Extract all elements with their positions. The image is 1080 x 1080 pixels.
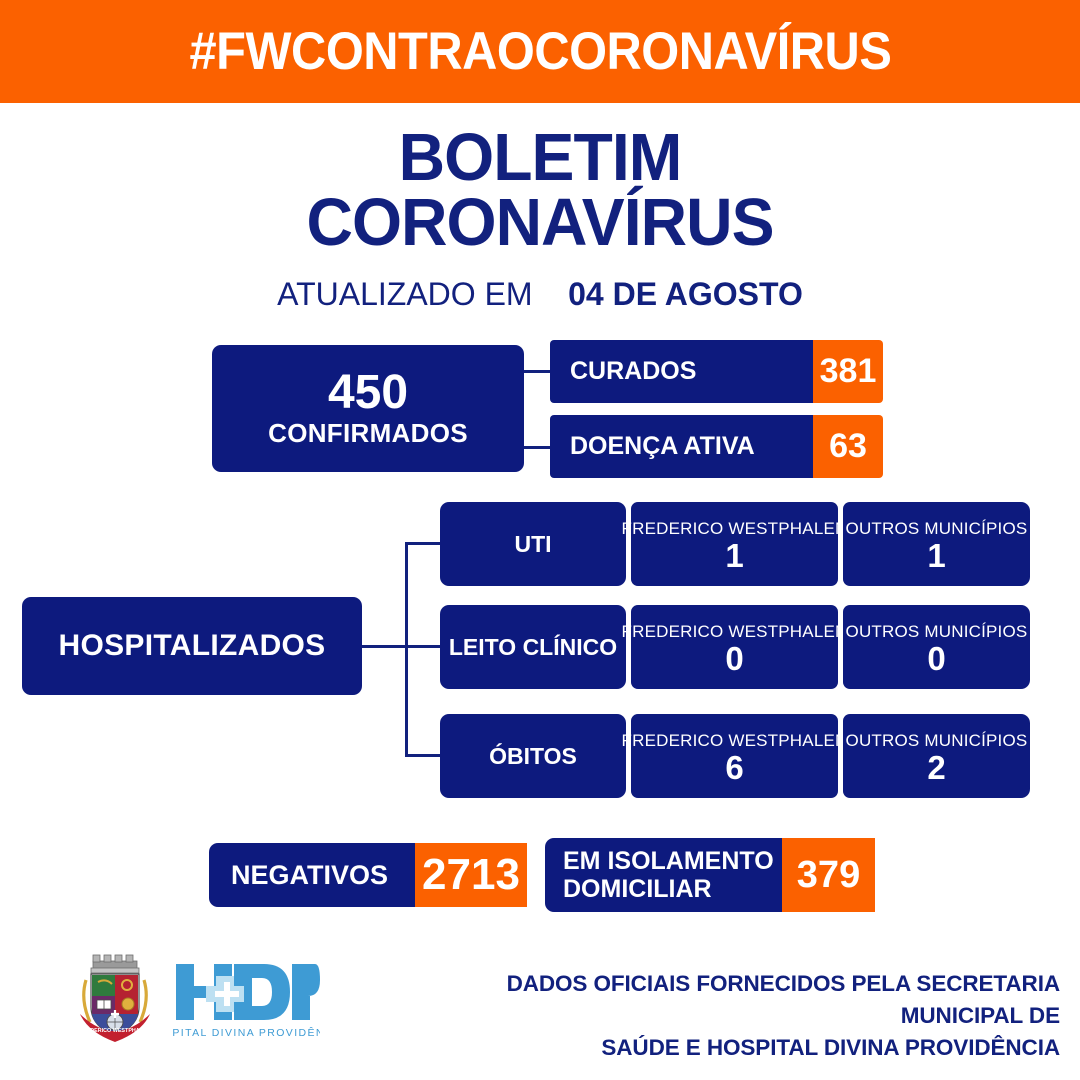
hospitalized-label: HOSPITALIZADOS (59, 629, 326, 663)
coat-of-arms-motto: FREDERICO WESTPHALEN (80, 1028, 151, 1034)
other-cities-value: 0 (927, 642, 945, 677)
confirmed-label: CONFIRMADOS (268, 418, 468, 449)
bracket-stem (362, 645, 408, 648)
coat-of-arms-icon: FREDERICO WESTPHALEN (72, 952, 158, 1044)
local-cases-header: FREDERICO WESTPHALEN (622, 519, 848, 539)
header-banner: #FWCONTRAOCORONAVÍRUS (0, 0, 1080, 103)
active-disease-value: 63 (813, 415, 883, 478)
other-cities-value: 2 (927, 751, 945, 786)
row-category-label: LEITO CLÍNICO (440, 605, 626, 689)
cured-value: 381 (813, 340, 883, 403)
bracket-spine (405, 542, 408, 756)
local-cases-header: FREDERICO WESTPHALEN (622, 622, 848, 642)
updated-label: ATUALIZADO EM (277, 276, 532, 312)
local-cases-header: FREDERICO WESTPHALEN (622, 731, 848, 751)
cured-label: CURADOS (550, 340, 813, 403)
title-line-2: CORONAVÍRUS (22, 190, 1059, 255)
other-cities-cell: OUTROS MUNICÍPIOS 2 (843, 714, 1030, 798)
footer-credit-text: DADOS OFICIAIS FORNECIDOS PELA SECRETARI… (395, 968, 1060, 1064)
local-cases-cell: FREDERICO WESTPHALEN 6 (631, 714, 838, 798)
row-category-label: UTI (440, 502, 626, 586)
campaign-hashtag: #FWCONTRAOCORONAVÍRUS (189, 21, 891, 82)
other-cities-cell: OUTROS MUNICÍPIOS 0 (843, 605, 1030, 689)
bulletin-infographic: #FWCONTRAOCORONAVÍRUS BOLETIM CORONAVÍRU… (0, 0, 1080, 1080)
hospitalized-row-leito-clinico: LEITO CLÍNICO FREDERICO WESTPHALEN 0 OUT… (440, 605, 1030, 689)
other-cities-header: OUTROS MUNICÍPIOS (846, 519, 1028, 539)
footer-credit-line-1: DADOS OFICIAIS FORNECIDOS PELA SECRETARI… (395, 968, 1060, 1032)
active-disease-stat-box: DOENÇA ATIVA 63 (550, 415, 883, 478)
other-cities-value: 1 (927, 539, 945, 574)
bracket-arm-uti (405, 542, 443, 545)
hospitalized-row-obitos: ÓBITOS FREDERICO WESTPHALEN 6 OUTROS MUN… (440, 714, 1030, 798)
hdp-logo-subtitle: HOSPITAL DIVINA PROVIDÊNCIA (172, 1026, 320, 1039)
hdp-hospital-logo: HOSPITAL DIVINA PROVIDÊNCIA (172, 958, 320, 1040)
negative-tests-value: 2713 (415, 843, 527, 907)
home-isolation-value: 379 (782, 838, 875, 912)
confirmed-value: 450 (328, 368, 408, 418)
local-cases-value: 1 (725, 539, 743, 574)
footer-credit-line-2: SAÚDE E HOSPITAL DIVINA PROVIDÊNCIA (395, 1032, 1060, 1064)
updated-date: 04 DE AGOSTO (568, 276, 803, 312)
confirmed-cases-box: 450 CONFIRMADOS (212, 345, 524, 472)
active-disease-label: DOENÇA ATIVA (550, 415, 813, 478)
other-cities-header: OUTROS MUNICÍPIOS (846, 622, 1028, 642)
updated-date-line: ATUALIZADO EM 04 DE AGOSTO (0, 278, 1080, 310)
negative-tests-label: NEGATIVOS (209, 843, 415, 907)
other-cities-cell: OUTROS MUNICÍPIOS 1 (843, 502, 1030, 586)
local-cases-value: 6 (725, 751, 743, 786)
page-title: BOLETIM CORONAVÍRUS (0, 125, 1080, 255)
bracket-arm-leito (405, 645, 443, 648)
home-isolation-label-line1: EM ISOLAMENTO (563, 847, 774, 875)
home-isolation-box: EM ISOLAMENTO DOMICILIAR 379 (545, 838, 875, 912)
connector-line-cured (524, 370, 552, 373)
cured-stat-box: CURADOS 381 (550, 340, 883, 403)
title-line-1: BOLETIM (22, 125, 1059, 190)
bracket-arm-obito (405, 754, 443, 757)
local-cases-cell: FREDERICO WESTPHALEN 0 (631, 605, 838, 689)
home-isolation-label-line2: DOMICILIAR (563, 875, 712, 903)
local-cases-value: 0 (725, 642, 743, 677)
negative-tests-box: NEGATIVOS 2713 (209, 843, 527, 907)
home-isolation-label: EM ISOLAMENTO DOMICILIAR (545, 838, 782, 912)
hospitalized-box: HOSPITALIZADOS (22, 597, 362, 695)
row-category-label: ÓBITOS (440, 714, 626, 798)
other-cities-header: OUTROS MUNICÍPIOS (846, 731, 1028, 751)
hospitalized-row-uti: UTI FREDERICO WESTPHALEN 1 OUTROS MUNICÍ… (440, 502, 1030, 586)
local-cases-cell: FREDERICO WESTPHALEN 1 (631, 502, 838, 586)
connector-line-active (524, 446, 552, 449)
